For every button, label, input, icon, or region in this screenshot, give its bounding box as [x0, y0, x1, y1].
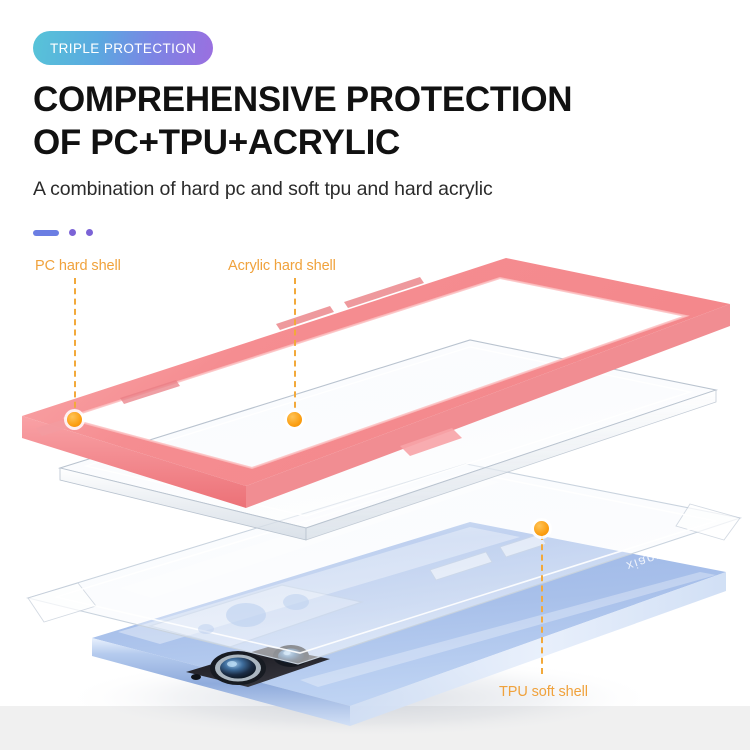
headline-line-2: OF PC+TPU+ACRYLIC	[33, 121, 723, 164]
callout-marker-tpu	[534, 521, 549, 536]
callout-label-pc: PC hard shell	[35, 258, 121, 274]
tpu-cutout-lens-c	[198, 624, 214, 634]
camera-lens-specular-main	[227, 661, 237, 667]
headline-line-1: COMPREHENSIVE PROTECTION	[33, 80, 572, 119]
callout-leader-acrylic	[294, 278, 296, 418]
pager-active-bar[interactable]	[33, 230, 59, 236]
camera-lens-glass-main	[220, 658, 256, 679]
page-subtitle: A combination of hard pc and soft tpu an…	[33, 178, 493, 201]
triple-protection-badge: TRIPLE PROTECTION	[33, 31, 213, 65]
pager-dot-2[interactable]	[69, 229, 76, 236]
callout-marker-acrylic	[287, 412, 302, 427]
tpu-cutout-lens-a	[226, 603, 266, 627]
product-infographic-page: TRIPLE PROTECTION COMPREHENSIVE PROTECTI…	[0, 0, 750, 750]
camera-flash	[191, 674, 201, 680]
callout-leader-tpu	[541, 534, 543, 674]
page-title: COMPREHENSIVE PROTECTION OF PC+TPU+ACRYL…	[33, 78, 723, 164]
exploded-product-render: xiaomi	[0, 250, 750, 750]
pagination-indicator[interactable]	[33, 229, 93, 236]
callout-label-tpu: TPU soft shell	[499, 684, 588, 700]
product-illustration: xiaomi	[0, 250, 750, 750]
badge-label: TRIPLE PROTECTION	[50, 41, 196, 56]
callout-marker-pc	[67, 412, 82, 427]
callout-label-acrylic: Acrylic hard shell	[228, 258, 336, 274]
callout-leader-pc	[74, 278, 76, 418]
pager-dot-3[interactable]	[86, 229, 93, 236]
tpu-cutout-lens-b	[283, 594, 309, 610]
